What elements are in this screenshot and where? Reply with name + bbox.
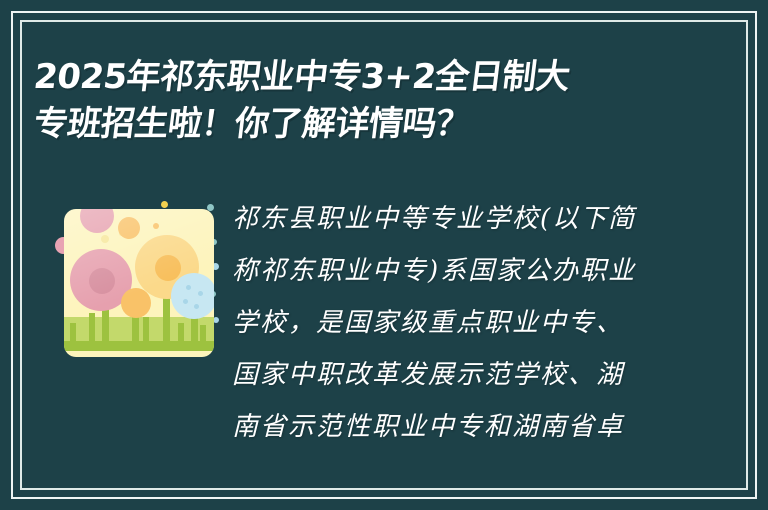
bloom-blue-speck-4 xyxy=(194,304,199,309)
ground-base-bar xyxy=(64,341,214,351)
poster-root: 2025年祁东职业中专3+2全日制大 专班招生啦！你了解详情吗？ xyxy=(0,0,768,510)
bloom-orange-large-core xyxy=(155,255,181,281)
grass-blade xyxy=(143,317,149,343)
bloom-pink-top xyxy=(80,209,114,233)
body-line: 南省示范性职业中专和湖南省卓 xyxy=(232,401,662,453)
title-line-1: 2025年祁东职业中专3+2全日制大 xyxy=(31,54,737,101)
accent-dot-orange-inner xyxy=(153,223,159,229)
grass-blade xyxy=(70,323,76,343)
page-title: 2025年祁东职业中专3+2全日制大 专班招生啦！你了解详情吗？ xyxy=(34,54,734,148)
accent-dot-pale-1 xyxy=(101,235,109,243)
title-line-2: 专班招生啦！你了解详情吗？ xyxy=(31,101,737,148)
bloom-orange-small-top xyxy=(118,217,140,239)
body-paragraph: 祁东县职业中等专业学校(以下简 称祁东职业中专)系国家公办职业 学校，是国家级重… xyxy=(232,193,662,453)
grass-blade xyxy=(89,313,95,343)
bloom-blue xyxy=(171,273,214,319)
content-row: 祁东县职业中等专业学校(以下简 称祁东职业中专)系国家公办职业 学校，是国家级重… xyxy=(0,193,768,473)
bloom-blue-speck-1 xyxy=(186,285,191,290)
accent-dot-yellow-top xyxy=(161,201,168,208)
bloom-pink-large-core xyxy=(89,268,115,294)
bloom-blue-speck-3 xyxy=(183,299,188,304)
bloom-blue-speck-2 xyxy=(198,291,203,296)
illustration-card xyxy=(64,209,214,357)
body-line: 国家中职改革发展示范学校、湖 xyxy=(232,349,662,401)
bloom-orange-small xyxy=(121,288,151,318)
body-line: 称祁东职业中专)系国家公办职业 xyxy=(232,245,662,297)
grass-blade xyxy=(178,323,184,343)
body-line: 学校，是国家级重点职业中专、 xyxy=(232,297,662,349)
flower-garden-illustration xyxy=(64,201,216,369)
body-line: 祁东县职业中等专业学校(以下简 xyxy=(232,193,662,245)
